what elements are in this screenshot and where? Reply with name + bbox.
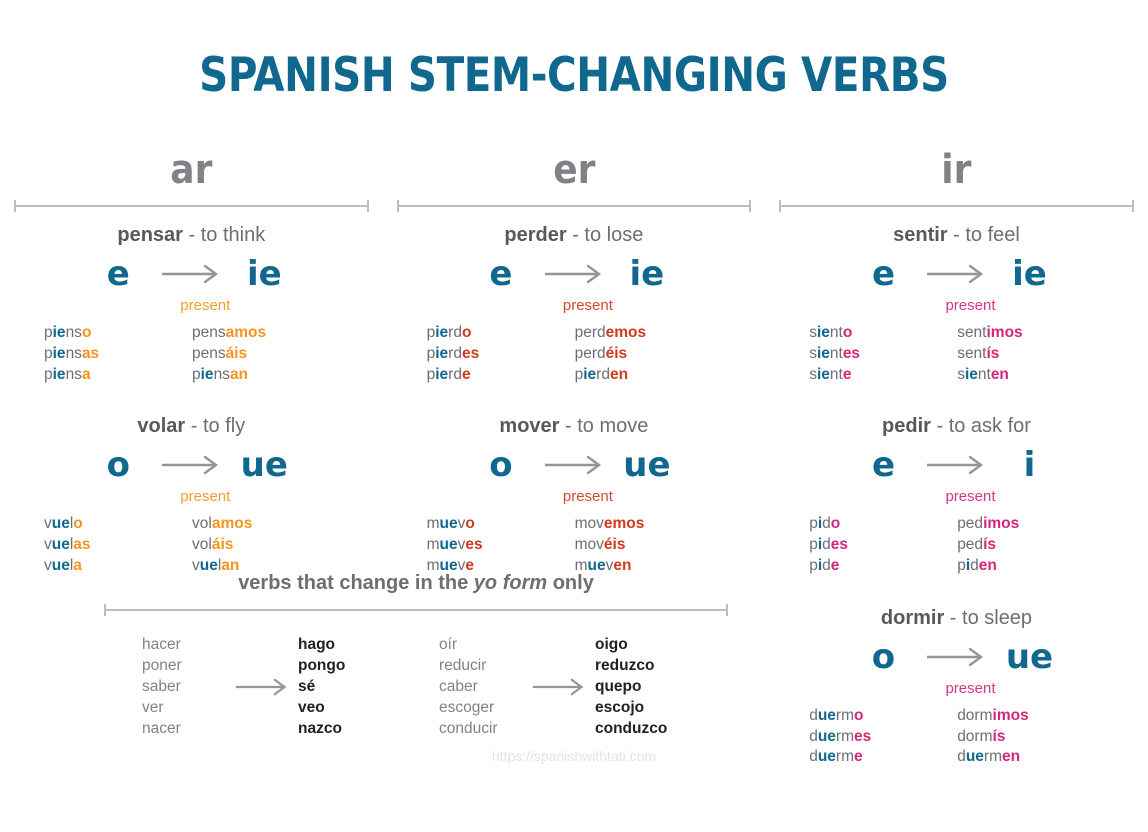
verb-stem-text: p bbox=[957, 557, 966, 574]
verb-infinitive: dormir bbox=[881, 607, 944, 629]
arrow-icon bbox=[543, 263, 605, 285]
verb-ending-highlight: éis bbox=[606, 345, 628, 362]
conjugation-row: siente bbox=[809, 365, 957, 386]
verb-ending-highlight: éis bbox=[604, 536, 626, 553]
verb-stem-text: sent bbox=[957, 324, 986, 341]
verb-stem-text: p bbox=[427, 324, 436, 341]
bracket-bar bbox=[779, 205, 1134, 207]
conjugation-row: pides bbox=[809, 535, 957, 556]
arrow-icon bbox=[160, 263, 222, 285]
verb-title: pedir - to ask for bbox=[771, 413, 1142, 439]
verb-stem-text: rd bbox=[448, 324, 462, 341]
verb-stem-text: s bbox=[809, 345, 817, 362]
verb-ending-highlight: emos bbox=[606, 324, 647, 341]
verb-stem-text: vol bbox=[192, 536, 212, 553]
yo-form-lists: hacerponersabervernacerhagopongoséveonaz… bbox=[96, 634, 736, 739]
conjugation-row: duermes bbox=[809, 727, 957, 748]
stem-change-highlight: ie bbox=[53, 345, 66, 362]
conjugation-row: sentís bbox=[957, 344, 1105, 365]
stem-change-row: eie bbox=[771, 252, 1142, 296]
conjugation-column-right: sentimossentíssienten bbox=[957, 323, 1105, 385]
arrow-icon bbox=[543, 454, 605, 476]
verb-stem-text: pens bbox=[192, 324, 226, 341]
conjugation-row: movemos bbox=[575, 514, 723, 535]
verb-stem-text: s bbox=[957, 366, 965, 383]
verb-stem-text: dorm bbox=[957, 728, 992, 745]
verb-translation: - to ask for bbox=[931, 415, 1031, 437]
stem-change-highlight: ie bbox=[817, 345, 830, 362]
tense-label: present bbox=[771, 488, 1142, 506]
stem-from-letter: e bbox=[841, 256, 925, 292]
stem-from-letter: o bbox=[76, 447, 160, 483]
stem-from-letter: e bbox=[459, 256, 543, 292]
verb-stem-text: pens bbox=[192, 345, 226, 362]
verb-stem-text: nt bbox=[830, 324, 843, 341]
stem-change-row: eie bbox=[389, 252, 760, 296]
verb-stem-text: m bbox=[427, 515, 440, 532]
conjugation-row: sientes bbox=[809, 344, 957, 365]
yo-form: escojo bbox=[595, 697, 667, 718]
yo-heading-pre: verbs that change in the bbox=[238, 572, 474, 594]
conjugation-row: piensas bbox=[44, 344, 192, 365]
arrow-icon bbox=[531, 676, 587, 698]
verb-stem-text: v bbox=[44, 557, 52, 574]
yo-form: pongo bbox=[298, 655, 345, 676]
stem-change-highlight: ue bbox=[52, 557, 70, 574]
verb-ending-highlight: as bbox=[82, 345, 99, 362]
verb-ending-highlight: es bbox=[843, 345, 860, 362]
conjugation-table: muevomuevesmuevemovemosmovéismueven bbox=[389, 514, 760, 576]
verb-ending-highlight: o bbox=[843, 324, 852, 341]
tense-label: present bbox=[771, 297, 1142, 315]
verb-ending-highlight: áis bbox=[212, 536, 234, 553]
yo-form: sé bbox=[298, 676, 345, 697]
stem-from-letter: e bbox=[841, 447, 925, 483]
verb-block-dormir: dormir - to sleepouepresentduermoduermes… bbox=[771, 605, 1142, 768]
verb-ending-highlight: o bbox=[465, 515, 474, 532]
stem-change-row: oue bbox=[6, 443, 377, 487]
conjugation-row: pierdes bbox=[427, 344, 575, 365]
stem-to-letter: ie bbox=[987, 256, 1071, 292]
verb-stem-text: v bbox=[44, 536, 52, 553]
verb-stem-text: p bbox=[575, 366, 584, 383]
conjugation-column-left: piensopiensaspiensa bbox=[44, 323, 192, 385]
verb-stem-text: nt bbox=[830, 366, 843, 383]
stem-change-row: oue bbox=[771, 635, 1142, 679]
conjugation-row: pedimos bbox=[957, 514, 1105, 535]
verb-stem-text: p bbox=[427, 345, 436, 362]
verb-ending-highlight: amos bbox=[226, 324, 267, 341]
conjugation-table: piensopiensaspiensapensamospensáispiensa… bbox=[6, 323, 377, 385]
verb-ending-highlight: es bbox=[854, 728, 871, 745]
stem-change-highlight: ie bbox=[53, 366, 66, 383]
verb-stem-text: sent bbox=[957, 345, 986, 362]
verb-title: dormir - to sleep bbox=[771, 605, 1142, 631]
yo-infinitive: escoger bbox=[439, 697, 531, 718]
verb-ending-highlight: e bbox=[843, 366, 852, 383]
verb-stem-text: ped bbox=[957, 515, 983, 532]
verb-stem-text: ns bbox=[214, 366, 230, 383]
verb-stem-text: perd bbox=[575, 324, 606, 341]
verb-title: volar - to fly bbox=[6, 413, 377, 439]
verb-translation: - to sleep bbox=[944, 607, 1032, 629]
conjugation-row: movéis bbox=[575, 535, 723, 556]
conjugation-row: piden bbox=[957, 556, 1105, 577]
column-bracket bbox=[397, 200, 752, 212]
yo-form: quepo bbox=[595, 676, 667, 697]
bracket-bar bbox=[397, 205, 752, 207]
bracket-cap-right bbox=[1132, 200, 1134, 212]
verb-ending-highlight: imos bbox=[993, 707, 1029, 724]
yo-form-bracket bbox=[104, 604, 728, 616]
conjugation-row: pierde bbox=[427, 365, 575, 386]
conjugation-row: pierdo bbox=[427, 323, 575, 344]
verb-stem-text: p bbox=[809, 557, 818, 574]
stem-change-row: eie bbox=[6, 252, 377, 296]
stem-change-highlight: ie bbox=[435, 345, 448, 362]
verb-infinitive: pensar bbox=[117, 224, 183, 246]
verb-ending-highlight: es bbox=[465, 536, 482, 553]
tense-label: present bbox=[6, 297, 377, 315]
verb-stem-text: s bbox=[809, 324, 817, 341]
conjugation-column-left: pidopidespide bbox=[809, 514, 957, 576]
yo-form: oigo bbox=[595, 634, 667, 655]
bracket-cap-right bbox=[367, 200, 369, 212]
yo-form-list: hagopongoséveonazco bbox=[290, 634, 345, 739]
yo-form: conduzco bbox=[595, 718, 667, 739]
column-heading: er bbox=[407, 148, 741, 192]
conjugation-row: pensáis bbox=[192, 344, 340, 365]
stem-to-letter: ue bbox=[222, 447, 306, 483]
stem-change-highlight: ue bbox=[440, 536, 458, 553]
verb-infinitive: pedir bbox=[882, 415, 931, 437]
verb-stem-text: mov bbox=[575, 536, 604, 553]
verb-title: sentir - to feel bbox=[771, 222, 1142, 248]
verb-translation: - to lose bbox=[567, 224, 644, 246]
stem-from-letter: e bbox=[76, 256, 160, 292]
conjugation-row: sentimos bbox=[957, 323, 1105, 344]
conjugation-row: volamos bbox=[192, 514, 340, 535]
stem-change-highlight: ie bbox=[435, 366, 448, 383]
verb-title: mover - to move bbox=[389, 413, 760, 439]
stem-from-letter: o bbox=[459, 447, 543, 483]
tense-label: present bbox=[389, 488, 760, 506]
verb-infinitive: mover bbox=[499, 415, 559, 437]
bracket-cap-right bbox=[749, 200, 751, 212]
verb-stem-text: dorm bbox=[957, 707, 992, 724]
conjugation-row: perdemos bbox=[575, 323, 723, 344]
yo-heading-post: only bbox=[547, 572, 594, 594]
verb-ending-highlight: en bbox=[979, 557, 997, 574]
conjugation-row: pierden bbox=[575, 365, 723, 386]
verb-stem-text: p bbox=[427, 366, 436, 383]
arrow-icon bbox=[234, 676, 290, 698]
verb-translation: - to move bbox=[559, 415, 648, 437]
tense-label: present bbox=[771, 680, 1142, 698]
verb-stem-text: d bbox=[970, 557, 979, 574]
verb-stem-text: p bbox=[44, 345, 53, 362]
verb-stem-text: p bbox=[192, 366, 201, 383]
footer-url: https://spanishwithtati.com bbox=[0, 748, 1148, 764]
stem-change-highlight: ie bbox=[817, 366, 830, 383]
verb-title: perder - to lose bbox=[389, 222, 760, 248]
column-bracket bbox=[14, 200, 369, 212]
yo-form: hago bbox=[298, 634, 345, 655]
stem-change-highlight: ue bbox=[52, 536, 70, 553]
verb-ending-highlight: en bbox=[610, 366, 628, 383]
verb-stem-text: p bbox=[44, 324, 53, 341]
verb-block-perder: perder - to loseeiepresentpierdopierdesp… bbox=[389, 222, 760, 385]
stem-to-letter: ie bbox=[222, 256, 306, 292]
verb-ending-highlight: imos bbox=[983, 515, 1019, 532]
yo-arrow-container bbox=[234, 676, 290, 698]
verb-infinitive: perder bbox=[504, 224, 566, 246]
conjugation-row: pedís bbox=[957, 535, 1105, 556]
verb-stem-text: mov bbox=[575, 515, 604, 532]
stem-change-highlight: ie bbox=[435, 324, 448, 341]
yo-infinitive: hacer bbox=[142, 634, 234, 655]
verb-stem-text: ped bbox=[957, 536, 983, 553]
arrow-icon bbox=[160, 454, 222, 476]
verb-ending-highlight: ís bbox=[987, 345, 1000, 362]
verb-block-volar: volar - to flyouepresentvuelovuelasvuela… bbox=[6, 413, 377, 576]
column-bracket bbox=[779, 200, 1134, 212]
yo-infinitive: saber bbox=[142, 676, 234, 697]
yo-arrow-container bbox=[531, 676, 587, 698]
verb-ending-highlight: imos bbox=[987, 324, 1023, 341]
conjugation-column-left: muevomuevesmueve bbox=[427, 514, 575, 576]
yo-form-group: oírreducircaberescogerconduciroigoreduzc… bbox=[439, 634, 736, 739]
stem-from-letter: o bbox=[841, 639, 925, 675]
verb-stem-text: rd bbox=[596, 366, 610, 383]
conjugation-column-right: pedimospedíspiden bbox=[957, 514, 1105, 576]
verb-ending-highlight: o bbox=[854, 707, 863, 724]
verb-stem-text: d bbox=[822, 557, 831, 574]
stem-change-highlight: ue bbox=[818, 707, 836, 724]
conjugation-row: piensan bbox=[192, 365, 340, 386]
verb-ending-highlight: amos bbox=[212, 515, 253, 532]
verb-stem-text: s bbox=[809, 366, 817, 383]
stem-change-row: ei bbox=[771, 443, 1142, 487]
verb-stem-text: rm bbox=[836, 707, 854, 724]
verb-stem-text: nt bbox=[830, 345, 843, 362]
stem-change-highlight: ue bbox=[52, 515, 70, 532]
stem-to-letter: ue bbox=[987, 639, 1071, 675]
tense-label: present bbox=[6, 488, 377, 506]
conjugation-column-right: perdemosperdéispierden bbox=[575, 323, 723, 385]
stem-to-letter: ue bbox=[605, 447, 689, 483]
conjugation-row: pide bbox=[809, 556, 957, 577]
verb-stem-text: ns bbox=[66, 324, 82, 341]
yo-form-list: oigoreduzcoquepoescojoconduzco bbox=[587, 634, 667, 739]
stem-change-highlight: ie bbox=[53, 324, 66, 341]
verb-ending-highlight: ís bbox=[983, 536, 996, 553]
stem-change-row: oue bbox=[389, 443, 760, 487]
verb-stem-text: rd bbox=[448, 366, 462, 383]
verb-stem-text: d bbox=[809, 728, 818, 745]
verb-block-pensar: pensar - to thinkeiepresentpiensopiensas… bbox=[6, 222, 377, 385]
stem-change-highlight: ie bbox=[201, 366, 214, 383]
bracket-bar bbox=[14, 205, 369, 207]
bracket-bar bbox=[104, 609, 728, 611]
verb-stem-text: p bbox=[44, 366, 53, 383]
conjugation-row: vuelas bbox=[44, 535, 192, 556]
column-heading: ir bbox=[790, 148, 1124, 192]
verb-translation: - to fly bbox=[185, 415, 245, 437]
conjugation-row: voláis bbox=[192, 535, 340, 556]
verb-stem-text: rd bbox=[448, 345, 462, 362]
verb-stem-text: ns bbox=[66, 366, 82, 383]
verb-stem-text: d bbox=[822, 536, 831, 553]
conjugation-row: dormimos bbox=[957, 706, 1105, 727]
yo-form: reduzco bbox=[595, 655, 667, 676]
conjugation-column-left: pierdopierdespierde bbox=[427, 323, 575, 385]
yo-infinitive: reducir bbox=[439, 655, 531, 676]
verb-ending-highlight: o bbox=[831, 515, 840, 532]
conjugation-table: pidopidespidepedimospedíspiden bbox=[771, 514, 1142, 576]
verb-ending-highlight: emos bbox=[604, 515, 645, 532]
yo-infinitive: caber bbox=[439, 676, 531, 697]
verb-stem-text: v bbox=[44, 515, 52, 532]
conjugation-column-right: movemosmovéismueven bbox=[575, 514, 723, 576]
conjugation-row: pienso bbox=[44, 323, 192, 344]
verb-ending-highlight: e bbox=[831, 557, 840, 574]
stem-to-letter: i bbox=[987, 447, 1071, 483]
stem-change-highlight: ie bbox=[583, 366, 596, 383]
verb-stem-text: p bbox=[809, 536, 818, 553]
yo-infinitive-list: oírreducircaberescogerconducir bbox=[439, 634, 531, 739]
conjugation-row: perdéis bbox=[575, 344, 723, 365]
conjugation-row: mueves bbox=[427, 535, 575, 556]
verb-ending-highlight: en bbox=[991, 366, 1009, 383]
verb-stem-text: nt bbox=[978, 366, 991, 383]
verb-ending-highlight: o bbox=[82, 324, 91, 341]
yo-form-heading: verbs that change in the yo form only bbox=[96, 570, 736, 596]
verb-stem-text: vol bbox=[192, 515, 212, 532]
verb-stem-text: ns bbox=[66, 345, 82, 362]
conjugation-row: vuelo bbox=[44, 514, 192, 535]
conjugation-row: siento bbox=[809, 323, 957, 344]
verb-ending-highlight: o bbox=[462, 324, 471, 341]
verb-stem-text: perd bbox=[575, 345, 606, 362]
conjugation-row: dormís bbox=[957, 727, 1105, 748]
stem-to-letter: ie bbox=[605, 256, 689, 292]
arrow-icon bbox=[925, 646, 987, 668]
verb-ending-highlight: o bbox=[73, 515, 82, 532]
verb-ending-highlight: a bbox=[82, 366, 91, 383]
yo-infinitive: ver bbox=[142, 697, 234, 718]
arrow-icon bbox=[925, 263, 987, 285]
verb-ending-highlight: a bbox=[73, 557, 82, 574]
yo-infinitive-list: hacerponersabervernacer bbox=[142, 634, 234, 739]
conjugation-row: duermo bbox=[809, 706, 957, 727]
stem-change-highlight: ue bbox=[818, 728, 836, 745]
yo-infinitive: poner bbox=[142, 655, 234, 676]
verb-infinitive: volar bbox=[137, 415, 185, 437]
verb-ending-highlight: es bbox=[831, 536, 848, 553]
conjugation-row: muevo bbox=[427, 514, 575, 535]
verb-stem-text: m bbox=[427, 536, 440, 553]
conjugation-column-left: vuelovuelasvuela bbox=[44, 514, 192, 576]
verb-ending-highlight: as bbox=[73, 536, 90, 553]
yo-infinitive: oír bbox=[439, 634, 531, 655]
conjugation-row: sienten bbox=[957, 365, 1105, 386]
verb-ending-highlight: e bbox=[462, 366, 471, 383]
conjugation-column-left: sientosientessiente bbox=[809, 323, 957, 385]
conjugation-table: vuelovuelasvuelavolamosvoláisvuelan bbox=[6, 514, 377, 576]
conjugation-row: pensamos bbox=[192, 323, 340, 344]
verb-ending-highlight: ís bbox=[993, 728, 1006, 745]
stem-change-highlight: ue bbox=[440, 515, 458, 532]
conjugation-row: pido bbox=[809, 514, 957, 535]
verb-stem-text: rm bbox=[836, 728, 854, 745]
verb-translation: - to think bbox=[183, 224, 265, 246]
yo-infinitive: conducir bbox=[439, 718, 531, 739]
page-title: SPANISH STEM-CHANGING VERBS bbox=[80, 48, 1067, 103]
arrow-icon bbox=[925, 454, 987, 476]
verb-block-mover: mover - to moveouepresentmuevomuevesmuev… bbox=[389, 413, 760, 576]
bracket-cap-right bbox=[726, 604, 728, 616]
verb-ending-highlight: es bbox=[462, 345, 479, 362]
yo-form-section: verbs that change in the yo form only ha… bbox=[96, 570, 736, 739]
verb-block-pedir: pedir - to ask foreipresentpidopidespide… bbox=[771, 413, 1142, 576]
verb-ending-highlight: an bbox=[230, 366, 248, 383]
conjugation-table: pierdopierdespierdeperdemosperdéispierde… bbox=[389, 323, 760, 385]
column-heading: ar bbox=[25, 148, 359, 192]
yo-infinitive: nacer bbox=[142, 718, 234, 739]
yo-form-group: hacerponersabervernacerhagopongoséveonaz… bbox=[142, 634, 439, 739]
stem-change-highlight: ie bbox=[817, 324, 830, 341]
verb-block-sentir: sentir - to feeleiepresentsientosientess… bbox=[771, 222, 1142, 385]
verb-translation: - to feel bbox=[948, 224, 1020, 246]
verb-ending-highlight: áis bbox=[226, 345, 248, 362]
conjugation-column-right: pensamospensáispiensan bbox=[192, 323, 340, 385]
verb-stem-text: p bbox=[809, 515, 818, 532]
conjugation-table: sientosientessientesentimossentíssienten bbox=[771, 323, 1142, 385]
verb-title: pensar - to think bbox=[6, 222, 377, 248]
verb-stem-text: d bbox=[809, 707, 818, 724]
tense-label: present bbox=[389, 297, 760, 315]
conjugation-column-right: volamosvoláisvuelan bbox=[192, 514, 340, 576]
yo-form: veo bbox=[298, 697, 345, 718]
yo-heading-emphasis: yo form bbox=[474, 572, 547, 594]
yo-form: nazco bbox=[298, 718, 345, 739]
verb-infinitive: sentir bbox=[893, 224, 947, 246]
verb-stem-text: d bbox=[822, 515, 831, 532]
verb-column-ir: irsentir - to feeleiepresentsientosiente… bbox=[765, 148, 1148, 768]
conjugation-row: piensa bbox=[44, 365, 192, 386]
stem-change-highlight: ie bbox=[965, 366, 978, 383]
